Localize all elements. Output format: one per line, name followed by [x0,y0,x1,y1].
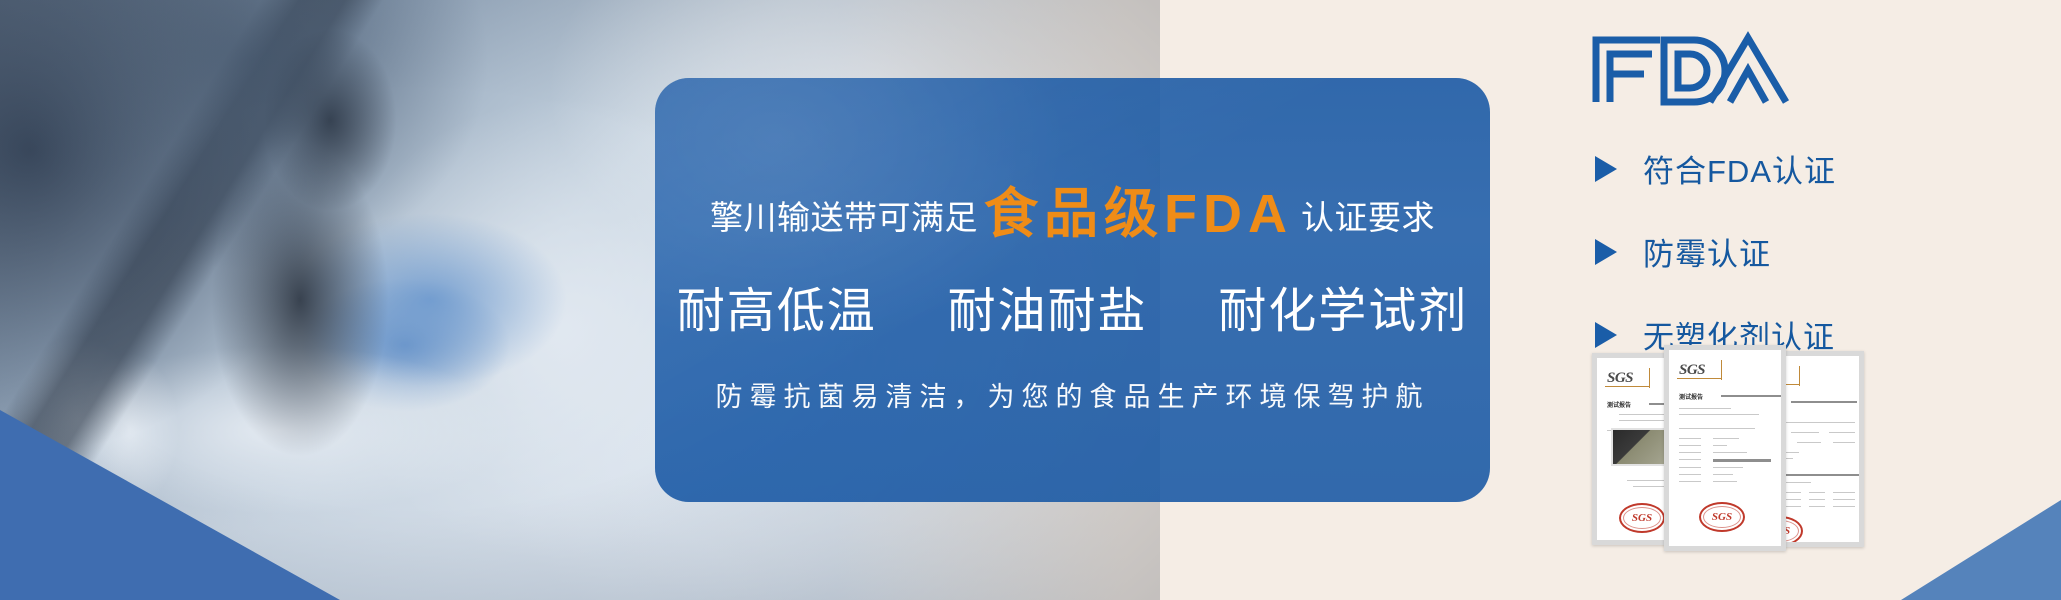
cert-line [1679,481,1701,482]
bullet-label-1: 防霉认证 [1643,229,1771,274]
cert-line [1679,467,1701,468]
feature-item-1: 耐高低温 [677,285,877,338]
promo-banner: 擎川输送带可满足 食品级FDA 认证要求 耐高低温 耐油耐盐 耐化学试剂 防霉抗… [0,0,2061,600]
sgs-stamp-1: SGS [1699,502,1745,532]
cert-line [1829,432,1855,433]
headline-line-3: 防霉抗菌易清洁，为您的食品生产环境保驾护航 [716,375,1430,414]
headline-suffix: 认证要求 [1301,191,1435,239]
corner-triangle-bottom-left [0,410,340,600]
cert-line [1713,481,1737,482]
headline-highlight: 食品级FDA [984,169,1293,248]
cert-line [1833,442,1855,443]
cert-line [1833,499,1855,500]
sgs-rule-0 [1605,386,1649,387]
cert-line [1679,474,1701,475]
sgs-stamp-0: SGS [1619,503,1665,533]
certificate-title-1: 测试报告 [1679,392,1703,401]
card-content: 擎川输送带可满足 食品级FDA 认证要求 耐高低温 耐油耐盐 耐化学试剂 防霉抗… [655,78,1490,502]
sgs-rule-1 [1677,378,1721,379]
cert-line [1713,474,1733,475]
fda-logo-icon [1590,30,1800,111]
cert-line [1713,445,1727,446]
stamp-ring [1623,507,1661,529]
cert-line [1713,438,1739,439]
cert-line [1679,459,1701,460]
bullet-item-1[interactable]: 防霉认证 [1595,229,1836,274]
sgs-tick-0 [1649,368,1650,388]
sgs-tick-2 [1799,366,1800,386]
cert-line [1809,506,1825,507]
headline-line-1: 擎川输送带可满足 食品级FDA 认证要求 [710,166,1435,245]
sgs-wordmark-0: SGS [1607,370,1633,387]
feature-item-3: 耐化学试剂 [1218,285,1468,338]
cert-line [1713,459,1771,462]
certificate-title-0: 测试报告 [1607,400,1631,409]
sgs-tick-1 [1721,360,1722,380]
right-panel: 符合FDA认证 防霉认证 无塑化剂认证 SGS 测试报告 [1570,0,2061,600]
cert-line [1833,506,1855,507]
cert-line [1809,492,1825,493]
cert-line [1791,432,1819,433]
cert-line [1713,452,1747,453]
certification-bullet-list: 符合FDA认证 防霉认证 无塑化剂认证 [1595,146,1836,357]
bullet-item-0[interactable]: 符合FDA认证 [1595,146,1836,191]
stamp-ring [1703,506,1741,528]
triangle-right-icon [1595,322,1617,348]
certificate-thumbnail-1[interactable]: SGS 测试报告 [1664,345,1786,551]
cert-line [1797,442,1821,443]
cert-line [1679,428,1755,429]
cert-line [1679,452,1701,453]
cert-line [1679,408,1731,409]
cert-line [1713,467,1743,468]
headline-line-2: 耐高低温 耐油耐盐 耐化学试剂 [677,271,1468,341]
feature-item-2: 耐油耐盐 [948,285,1148,338]
triangle-right-icon [1595,239,1617,265]
cert-line [1679,438,1701,439]
cert-line [1809,499,1825,500]
headline-prefix: 擎川输送带可满足 [710,191,978,239]
triangle-right-icon [1595,156,1617,182]
certificate-page-1: SGS 测试报告 [1669,350,1781,546]
sgs-wordmark-1: SGS [1679,362,1705,379]
cert-line [1679,414,1759,415]
cert-line [1833,492,1855,493]
cert-line [1791,401,1857,403]
certificate-gallery: SGS 测试报告 SGS [1592,345,1892,560]
headline-card: 擎川输送带可满足 食品级FDA 认证要求 耐高低温 耐油耐盐 耐化学试剂 防霉抗… [655,78,1490,502]
bullet-label-0: 符合FDA认证 [1643,146,1836,191]
cert-line [1679,445,1701,446]
cert-line [1721,395,1781,397]
